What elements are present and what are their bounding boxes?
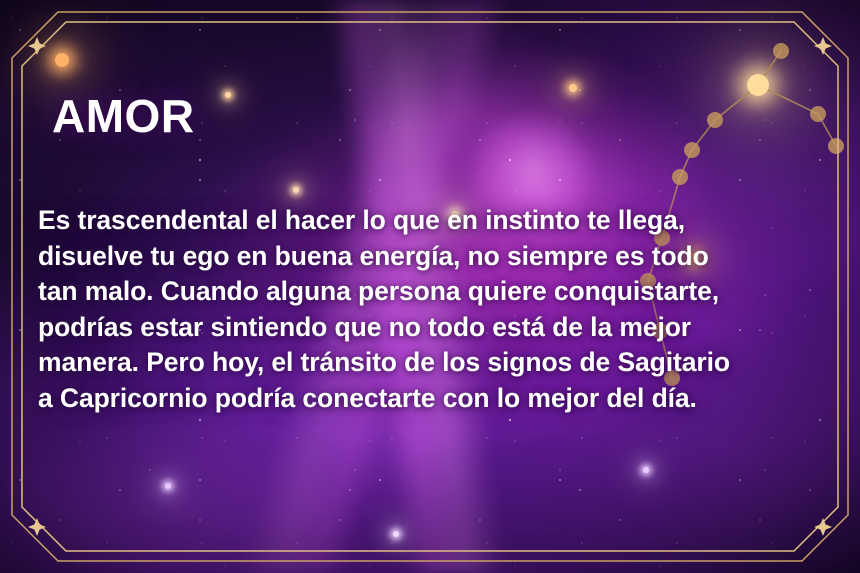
body-text-line: tan malo. Cuando alguna persona quiere c… (38, 274, 828, 310)
body-text-line: disuelve tu ego en buena energía, no sie… (38, 239, 828, 275)
horoscope-card: AMOR Es trascendental el hacer lo que en… (0, 0, 860, 573)
page-title: AMOR (52, 93, 195, 139)
body-text-line: Es trascendental el hacer lo que en inst… (38, 203, 828, 239)
card-content: AMOR Es trascendental el hacer lo que en… (0, 0, 860, 573)
body-text-line: a Capricornio podría conectarte con lo m… (38, 381, 828, 417)
body-text-line: podrías estar sintiendo que no todo está… (38, 310, 828, 346)
horoscope-body-text: Es trascendental el hacer lo que en inst… (38, 203, 828, 416)
body-text-line: manera. Pero hoy, el tránsito de los sig… (38, 345, 828, 381)
